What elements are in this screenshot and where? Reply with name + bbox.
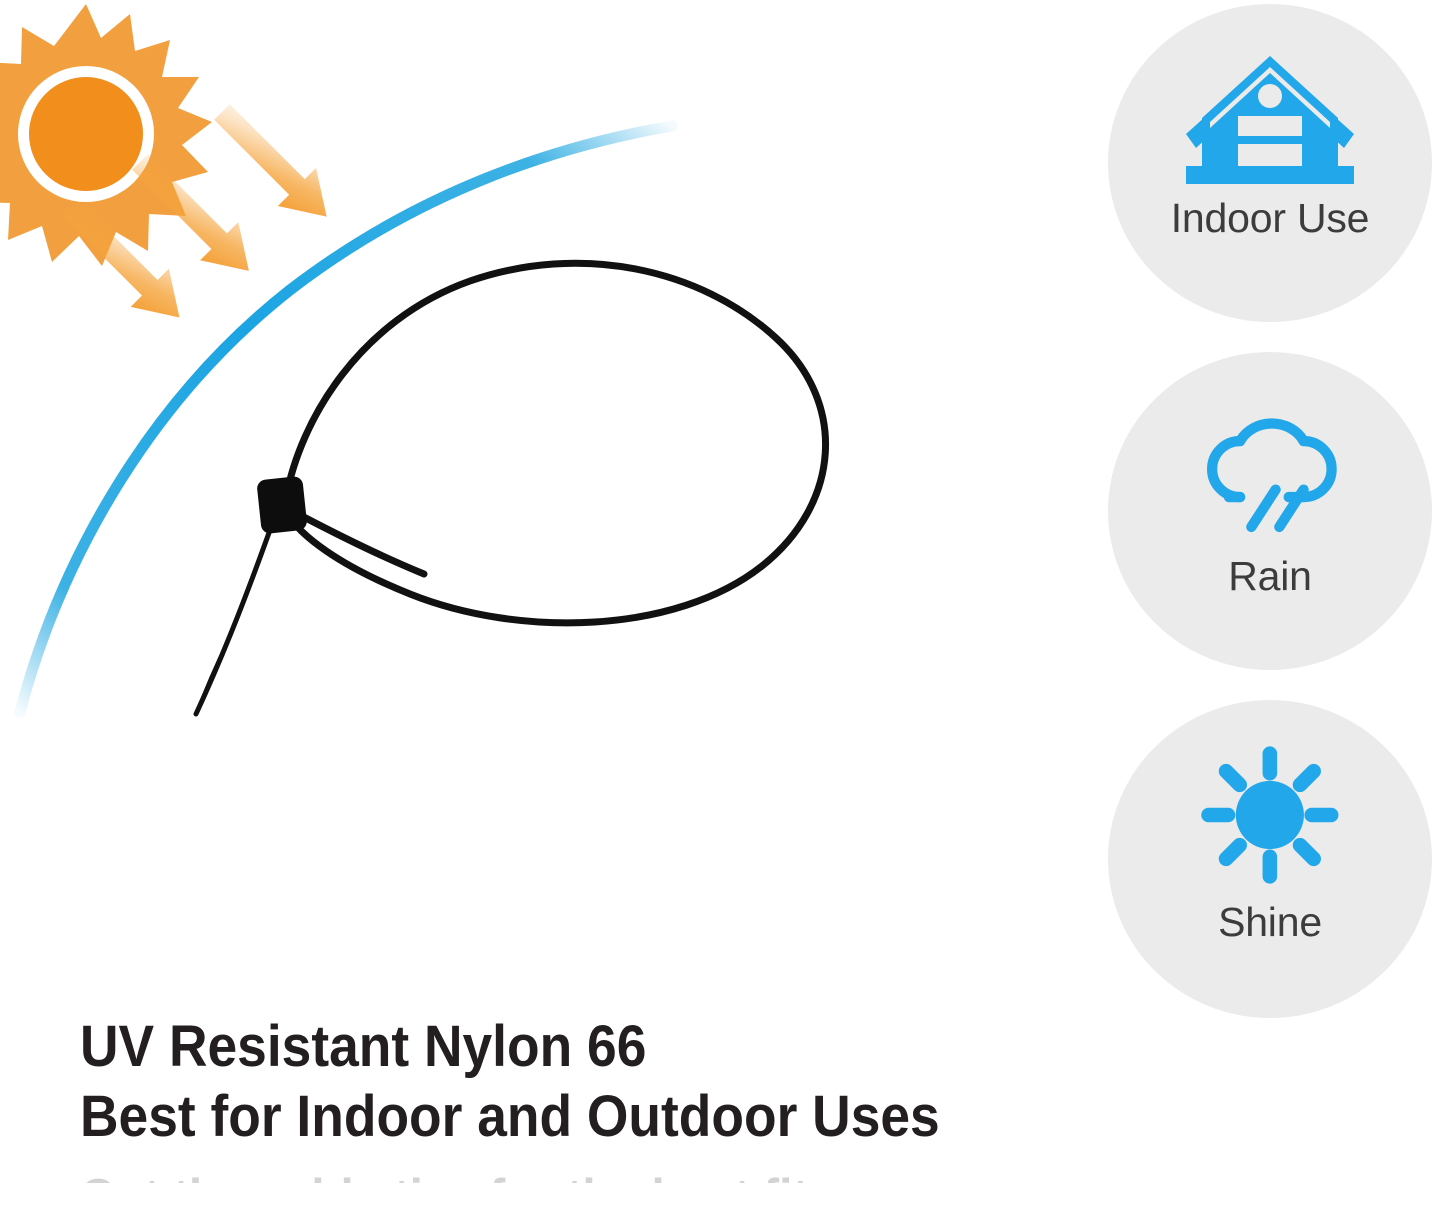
sun-burst-icon: [0, 4, 212, 266]
feature-badge-group: Indoor Use Rain: [1108, 0, 1432, 1020]
black-cable-tie: [196, 263, 826, 714]
headline-block: UV Resistant Nylon 66 Best for Indoor an…: [80, 1012, 1080, 1183]
badge-label-shine: Shine: [1218, 902, 1322, 943]
headline-line-1: UV Resistant Nylon 66: [80, 1012, 1000, 1082]
badge-rain[interactable]: Rain: [1108, 352, 1432, 670]
badge-indoor-use[interactable]: Indoor Use: [1108, 4, 1432, 322]
badge-label-indoor-use: Indoor Use: [1171, 198, 1370, 239]
headline-line-3-cropped: Cut the cable ties for the best fit: [80, 1167, 1000, 1183]
badge-label-rain: Rain: [1228, 556, 1312, 597]
uv-resistance-illustration: [0, 0, 1080, 1000]
badge-shine[interactable]: Shine: [1108, 700, 1432, 1018]
house-icon: [1180, 42, 1360, 192]
sun-shine-icon: [1192, 742, 1348, 888]
rain-cloud-icon: [1186, 400, 1354, 540]
headline-line-2: Best for Indoor and Outdoor Uses: [80, 1082, 1000, 1152]
feature-graphic-page: Indoor Use Rain: [0, 0, 1432, 1211]
